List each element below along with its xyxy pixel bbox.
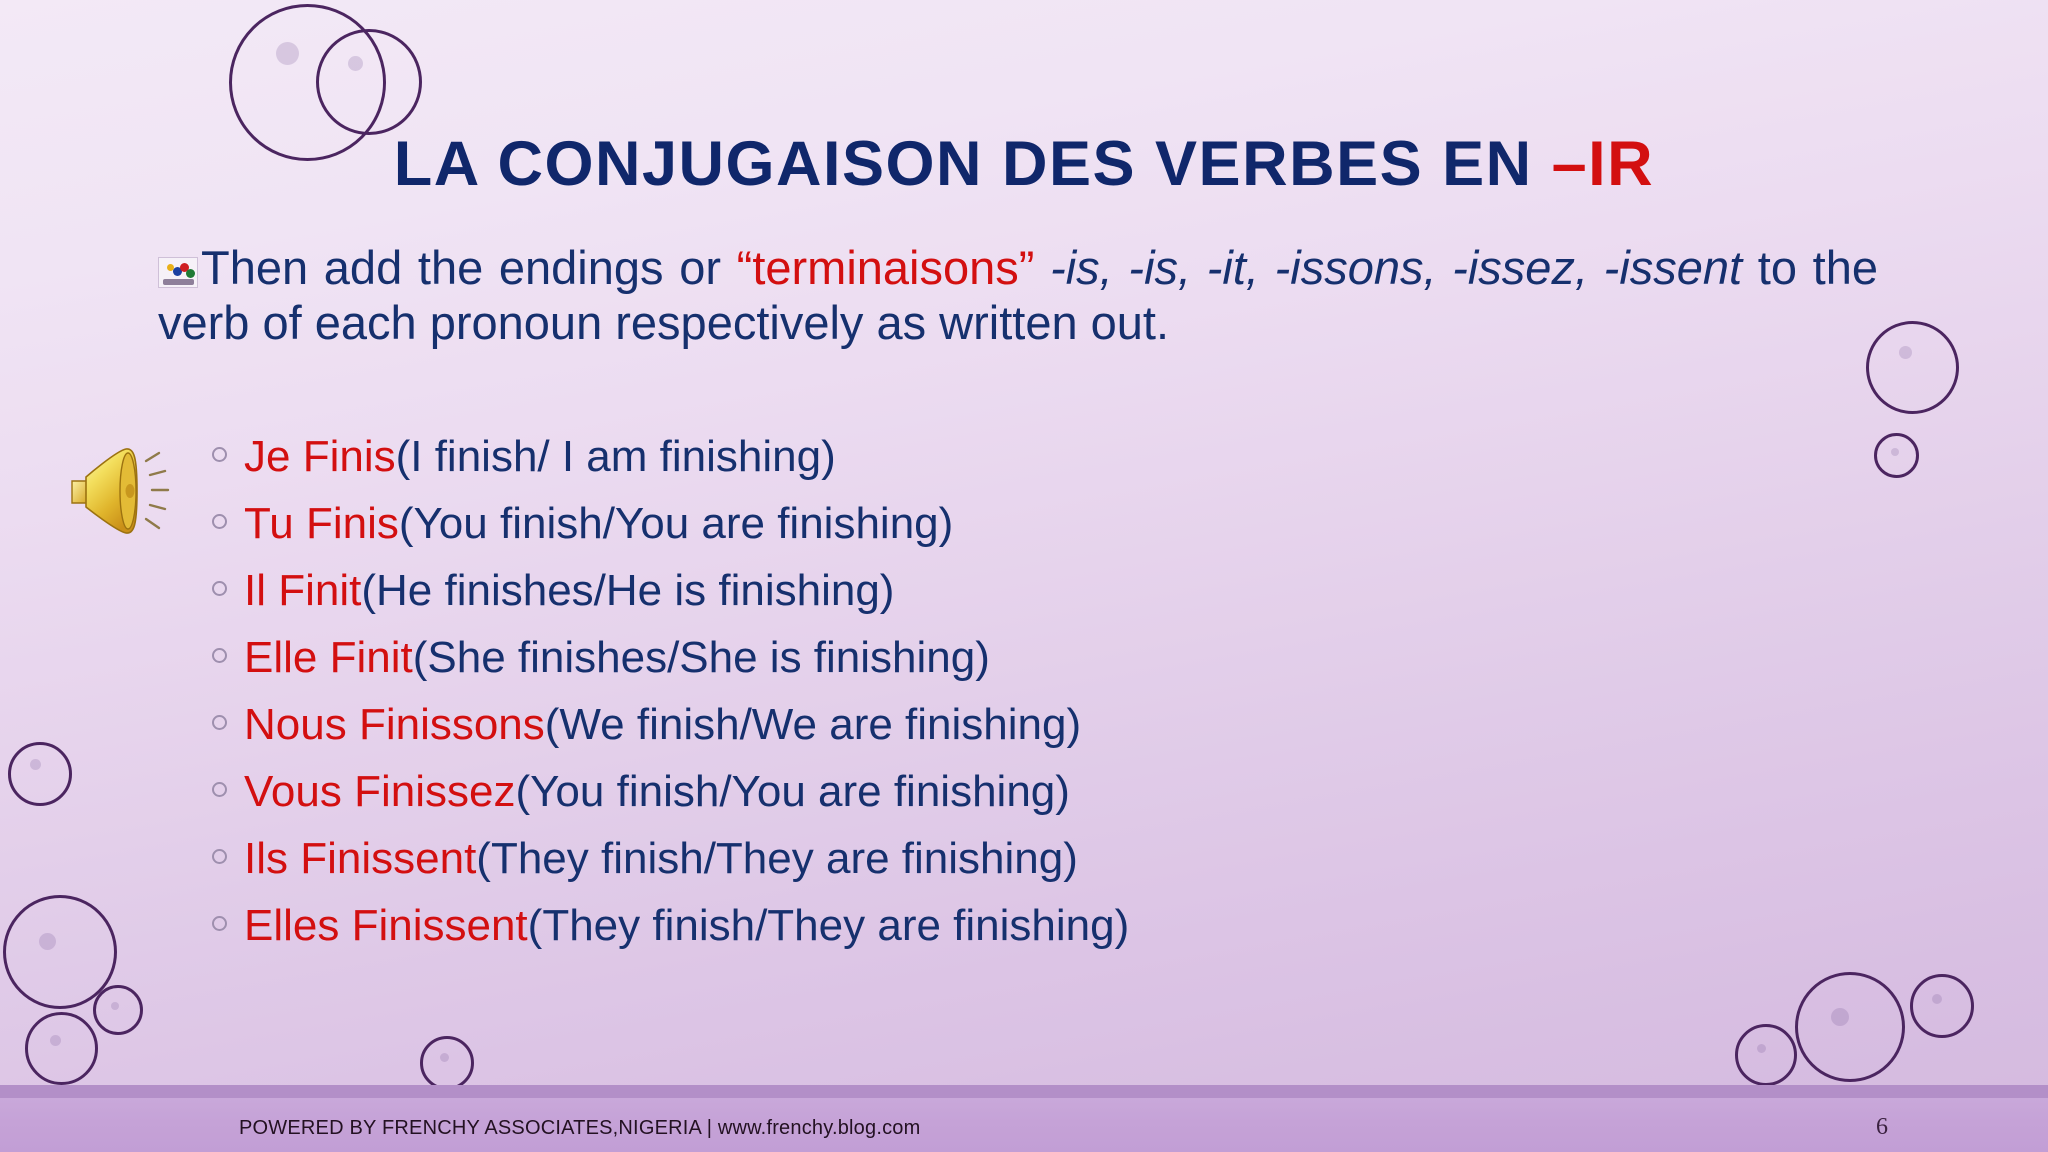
bubble-highlight [1757,1044,1766,1053]
conjugation-row: Il Finit (He finishes/He is finishing) [212,566,1712,633]
conjugation-french: Nous Finissons [244,700,545,750]
bubble-circle [93,985,143,1035]
bubble-circle [316,29,422,135]
bubble-highlight [348,56,363,71]
circle-bullet-icon [212,715,227,730]
bubble-circle [420,1036,474,1090]
conjugation-row: Vous Finissez (You finish/You are finish… [212,767,1712,834]
circle-bullet-icon [212,648,227,663]
bubble-highlight [1899,346,1912,359]
conjugation-english: (She finishes/She is finishing) [413,633,990,683]
bubble-highlight [30,759,41,770]
title-suffix: –IR [1552,129,1655,199]
bubble-circle [25,1012,98,1085]
slide-canvas: LA CONJUGAISON DES VERBES EN –IR Then ad… [0,0,2048,1152]
conjugation-row: Elle Finit (She finishes/She is finishin… [212,633,1712,700]
conjugation-row: Ils Finissent (They finish/They are fini… [212,834,1712,901]
title-main: LA CONJUGAISON DES VERBES EN [394,129,1552,199]
conjugation-row: Elles Finissent (They finish/They are fi… [212,901,1712,968]
bubble-highlight [50,1035,61,1046]
conjugation-french: Je Finis [244,432,396,482]
conjugation-french: Ils Finissent [244,834,476,884]
conjugation-english: (We finish/We are finishing) [545,700,1081,750]
conjugation-row: Nous Finissons (We finish/We are finishi… [212,700,1712,767]
bubble-circle [1866,321,1959,414]
circle-bullet-icon [212,782,227,797]
intro-text-part1: Then add the endings or [201,241,737,294]
footer-credit: POWERED BY FRENCHY ASSOCIATES,NIGERIA | … [239,1117,920,1140]
bubble-circle [1910,974,1974,1038]
intro-endings: -is, -is, -it, -issons, -issez, -issent [1034,241,1742,294]
conjugation-french: Elle Finit [244,633,413,683]
circle-bullet-icon [212,916,227,931]
bubble-highlight [1831,1008,1849,1026]
intro-paragraph: Then add the endings or “terminaisons” -… [158,240,1878,351]
conjugation-english: (You finish/You are finishing) [515,767,1069,817]
conjugation-french: Vous Finissez [244,767,515,817]
conjugation-row: Je Finis (I finish/ I am finishing) [212,432,1712,499]
bubble-circle [8,742,72,806]
bubble-highlight [440,1053,449,1062]
conjugation-french: Il Finit [244,566,361,616]
conjugation-english: (They finish/They are finishing) [476,834,1078,884]
conjugation-english: (They finish/They are finishing) [528,901,1130,951]
bubble-circle [3,895,117,1009]
footer-divider-band [0,1085,2048,1098]
page-title: LA CONJUGAISON DES VERBES EN –IR [0,128,2048,200]
conjugation-list: Je Finis (I finish/ I am finishing)Tu Fi… [212,432,1712,968]
conjugation-french: Tu Finis [244,499,399,549]
bubble-circle [1735,1024,1797,1086]
bubble-highlight [276,42,299,65]
page-number: 6 [1876,1114,1888,1141]
conjugation-french: Elles Finissent [244,901,528,951]
intro-terminaisons: “terminaisons” [737,241,1035,294]
bubble-highlight [39,933,56,950]
bubble-highlight [1932,994,1942,1004]
circle-bullet-icon [212,514,227,529]
conjugation-row: Tu Finis(You finish/You are finishing) [212,499,1712,566]
bubble-circle [1795,972,1905,1082]
globe-balloons-bullet-icon [158,257,198,288]
speaker-audio-icon[interactable] [64,443,174,539]
bubble-highlight [1891,448,1899,456]
circle-bullet-icon [212,447,227,462]
bubble-circle [1874,433,1919,478]
conjugation-english: (I finish/ I am finishing) [396,432,836,482]
conjugation-english: (He finishes/He is finishing) [361,566,894,616]
circle-bullet-icon [212,849,227,864]
conjugation-english: (You finish/You are finishing) [399,499,953,549]
circle-bullet-icon [212,581,227,596]
bubble-highlight [111,1002,119,1010]
